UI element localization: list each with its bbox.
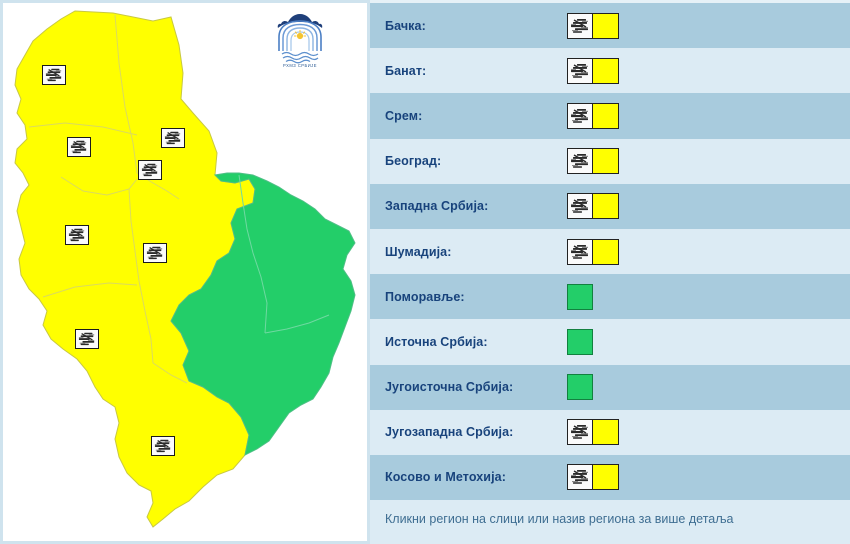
warning-swatch-yellow-srem <box>593 103 619 129</box>
hint-text: Кликни регион на слици или назив региона… <box>385 512 734 526</box>
region-swatches-srem <box>567 93 619 138</box>
region-label-beograd[interactable]: Београд: <box>370 154 567 168</box>
fog-icon <box>68 138 90 156</box>
region-swatches-jugoistocna-srbija <box>567 365 593 410</box>
region-swatches-sumadija <box>567 229 619 274</box>
warning-swatch-yellow-jugozapadna-srbija <box>593 419 619 445</box>
fog-icon <box>76 330 98 348</box>
fog-icon <box>568 420 592 444</box>
fog-icon <box>568 14 592 38</box>
fog-icon <box>568 59 592 83</box>
warning-swatch-yellow-banat <box>593 58 619 84</box>
fog-icon-box-kosovo-i-metohija <box>567 464 593 490</box>
region-label-banat[interactable]: Банат: <box>370 64 567 78</box>
region-label-kosovo-i-metohija[interactable]: Косово и Метохија: <box>370 470 567 484</box>
rhmz-serbia-logo: РХМЗ СРБИЈЕ <box>274 11 326 69</box>
region-label-jugoistocna-srbija[interactable]: Југоисточна Србија: <box>370 380 567 394</box>
fog-icon <box>162 129 184 147</box>
fog-icon <box>139 161 161 179</box>
region-swatches-banat <box>567 48 619 93</box>
fog-icon <box>43 66 65 84</box>
region-row-list: Бачка:Банат:Срем:Београд:Западна Србија:… <box>370 3 850 500</box>
region-warning-table: Бачка:Банат:Срем:Београд:Западна Србија:… <box>370 0 850 544</box>
region-row-zapadna-srbija[interactable]: Западна Србија: <box>370 184 850 229</box>
fog-icon <box>568 194 592 218</box>
hint-row: Кликни регион на слици или назив региона… <box>370 500 850 544</box>
warning-swatch-yellow-sumadija <box>593 239 619 265</box>
region-row-pomoravlje[interactable]: Поморавље: <box>370 274 850 319</box>
region-label-sumadija[interactable]: Шумадија: <box>370 245 567 259</box>
region-row-srem[interactable]: Срем: <box>370 93 850 138</box>
map-marker-banat[interactable] <box>161 128 185 148</box>
fog-icon <box>66 226 88 244</box>
fog-icon-box-banat <box>567 58 593 84</box>
region-row-istocna-srbija[interactable]: Источна Србија: <box>370 319 850 364</box>
map-marker-backa[interactable] <box>42 65 66 85</box>
warning-swatch-yellow-zapadna-srbija <box>593 193 619 219</box>
fog-icon-box-backa <box>567 13 593 39</box>
warning-swatch-yellow-kosovo-i-metohija <box>593 464 619 490</box>
region-label-srem[interactable]: Срем: <box>370 109 567 123</box>
fog-icon <box>568 240 592 264</box>
fog-icon <box>568 104 592 128</box>
map-panel: РХМЗ СРБИЈЕ <box>0 0 370 544</box>
logo-artwork: РХМЗ СРБИЈЕ <box>274 11 326 69</box>
region-row-banat[interactable]: Банат: <box>370 48 850 93</box>
region-swatches-zapadna-srbija <box>567 184 619 229</box>
fog-icon-box-sumadija <box>567 239 593 265</box>
region-swatches-istocna-srbija <box>567 319 593 364</box>
warning-swatch-green-pomoravlje <box>567 284 593 310</box>
region-swatches-jugozapadna-srbija <box>567 410 619 455</box>
region-label-istocna-srbija[interactable]: Источна Србија: <box>370 335 567 349</box>
region-row-backa[interactable]: Бачка: <box>370 3 850 48</box>
region-swatches-beograd <box>567 139 619 184</box>
fog-icon <box>568 465 592 489</box>
fog-icon-box-zapadna-srbija <box>567 193 593 219</box>
weather-warning-page: РХМЗ СРБИЈЕ Бачка:Банат:Срем:Београд:Зап… <box>0 0 850 544</box>
region-label-jugozapadna-srbija[interactable]: Југозападна Србија: <box>370 425 567 439</box>
map-marker-jugozapadna-srbija[interactable] <box>75 329 99 349</box>
map-marker-zapadna-srbija[interactable] <box>65 225 89 245</box>
warning-swatch-green-istocna-srbija <box>567 329 593 355</box>
map-marker-kosovo[interactable] <box>151 436 175 456</box>
region-row-sumadija[interactable]: Шумадија: <box>370 229 850 274</box>
warning-swatch-yellow-beograd <box>593 148 619 174</box>
region-label-pomoravlje[interactable]: Поморавље: <box>370 290 567 304</box>
warning-swatch-yellow-backa <box>593 13 619 39</box>
warning-swatch-green-jugoistocna-srbija <box>567 374 593 400</box>
region-row-jugoistocna-srbija[interactable]: Југоисточна Србија: <box>370 365 850 410</box>
fog-icon <box>568 149 592 173</box>
map-marker-sumadija[interactable] <box>143 243 167 263</box>
region-swatches-pomoravlje <box>567 274 593 319</box>
region-swatches-backa <box>567 3 619 48</box>
region-swatches-kosovo-i-metohija <box>567 455 619 500</box>
region-label-zapadna-srbija[interactable]: Западна Србија: <box>370 199 567 213</box>
region-row-jugozapadna-srbija[interactable]: Југозападна Србија: <box>370 410 850 455</box>
fog-icon-box-srem <box>567 103 593 129</box>
logo-caption: РХМЗ СРБИЈЕ <box>283 63 317 68</box>
fog-icon <box>144 244 166 262</box>
region-row-kosovo-i-metohija[interactable]: Косово и Метохија: <box>370 455 850 500</box>
fog-icon-box-beograd <box>567 148 593 174</box>
map-marker-beograd[interactable] <box>138 160 162 180</box>
fog-icon <box>152 437 174 455</box>
map-marker-sremzapad[interactable] <box>67 137 91 157</box>
fog-icon-box-jugozapadna-srbija <box>567 419 593 445</box>
region-row-beograd[interactable]: Београд: <box>370 139 850 184</box>
region-label-backa[interactable]: Бачка: <box>370 19 567 33</box>
